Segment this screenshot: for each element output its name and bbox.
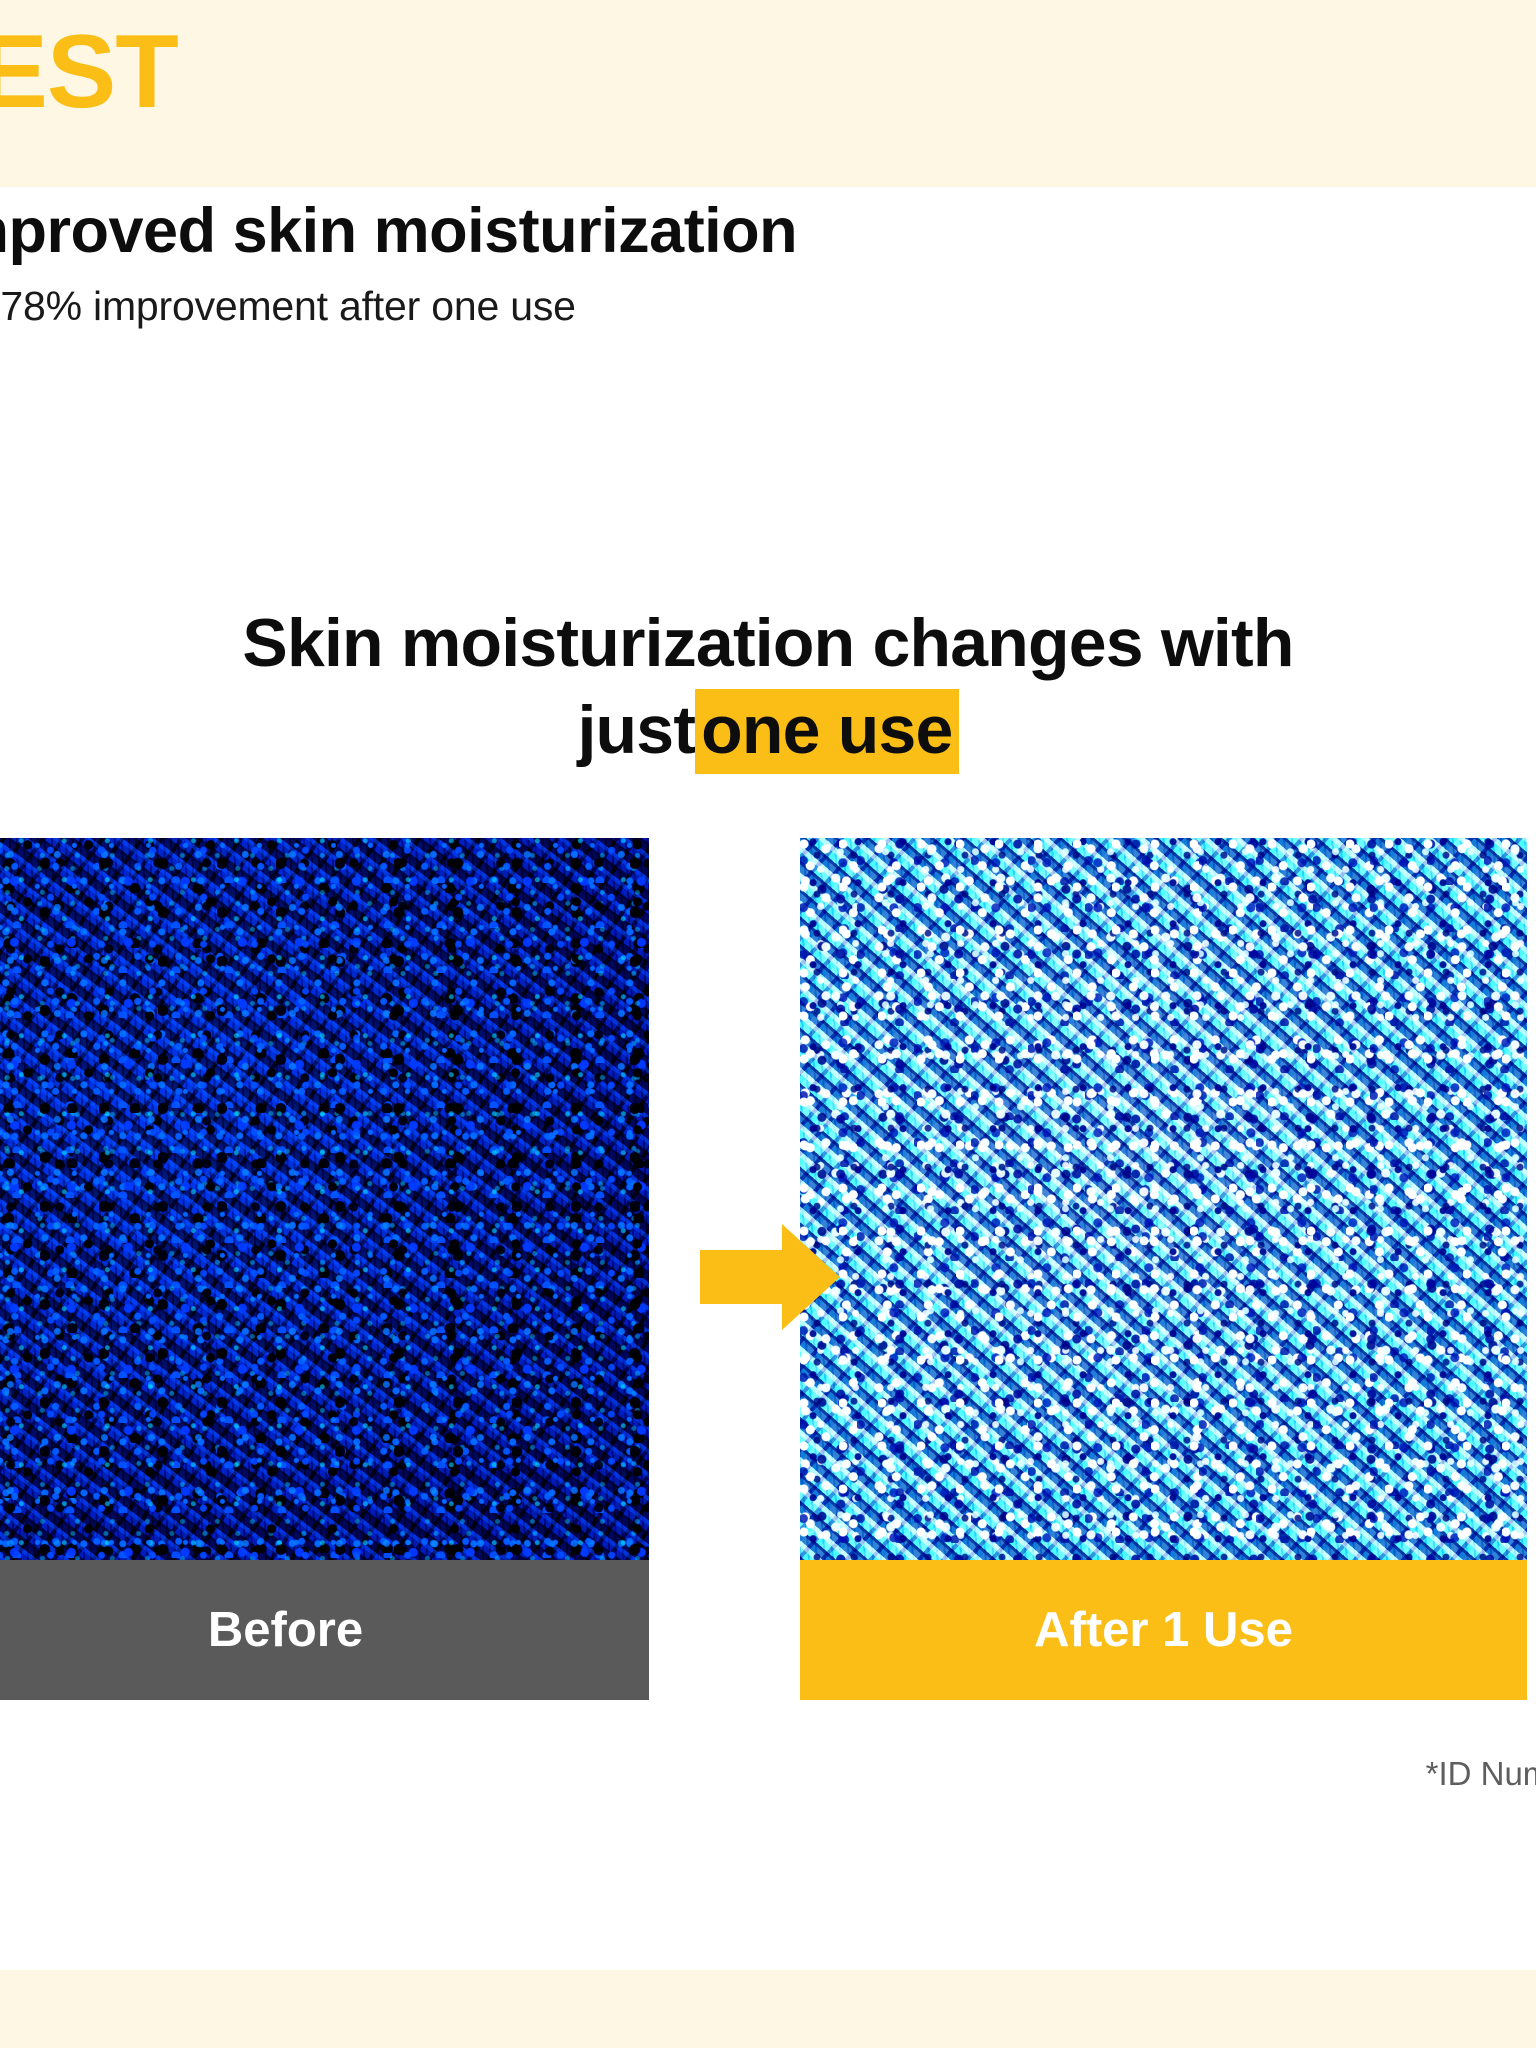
after-label-bar: After 1 Use	[800, 1560, 1527, 1700]
main-heading-line2-plain: just	[577, 692, 695, 768]
skin-moisture-after-image	[800, 838, 1527, 1560]
main-heading-highlight: one use	[695, 689, 958, 774]
footnote-text: *ID Number	[1426, 1755, 1536, 1793]
comparison-panel-after: After 1 Use	[800, 838, 1527, 1700]
after-label: After 1 Use	[1034, 1602, 1293, 1658]
before-label-bar: Before	[0, 1560, 649, 1700]
before-label: Before	[208, 1602, 363, 1658]
main-heading-line1: Skin moisturization changes with	[242, 605, 1293, 681]
right-arrow-icon	[700, 1222, 840, 1332]
header-subtitle-wrap: 42.78% improvement after one use	[0, 283, 1536, 353]
page-headline: Improved skin moisturization	[0, 195, 797, 267]
top-banner: TEST	[0, 0, 1536, 187]
comparison-panel-before: Before	[0, 838, 649, 1700]
top-banner-title: TEST	[0, 18, 178, 127]
main-heading: Skin moisturization changes with justone…	[0, 600, 1536, 774]
skin-moisture-before-image	[0, 838, 649, 1560]
page-subtitle: 42.78% improvement after one use	[0, 283, 576, 330]
bottom-banner	[0, 1970, 1536, 2048]
